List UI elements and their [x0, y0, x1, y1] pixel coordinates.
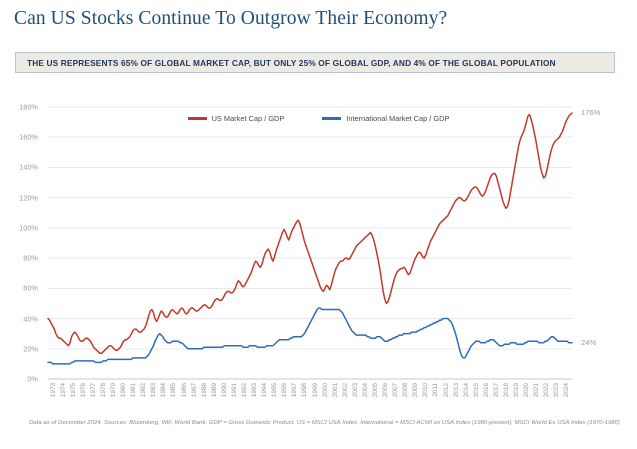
x-axis-tick-label: 1992: [241, 383, 248, 397]
x-axis-tick-label: 2017: [493, 383, 500, 397]
x-axis-tick-label: 1975: [70, 383, 77, 397]
y-axis-tick-label: 80%: [8, 254, 38, 263]
x-axis-tick-label: 1982: [140, 383, 147, 397]
x-axis-tick-label: 2010: [422, 383, 429, 397]
x-axis-tick-label: 1986: [181, 383, 188, 397]
x-axis-tick-label: 1993: [251, 383, 258, 397]
subtitle-text: THE US REPRESENTS 65% OF GLOBAL MARKET C…: [16, 58, 556, 68]
x-axis-tick-label: 2004: [362, 383, 369, 397]
x-axis-tick-label: 1983: [150, 383, 157, 397]
y-axis-tick-label: 20%: [8, 344, 38, 353]
x-axis-tick-label: 2007: [392, 383, 399, 397]
x-axis-tick-label: 1989: [211, 383, 218, 397]
series-line-international: [48, 308, 572, 364]
x-axis-tick-label: 1999: [312, 383, 319, 397]
x-axis-tick-label: 1980: [120, 383, 127, 397]
x-axis-tick-label: 1973: [50, 383, 57, 397]
x-axis-tick-label: 2002: [342, 383, 349, 397]
x-axis-tick-label: 2000: [322, 383, 329, 397]
x-axis-tick-label: 1995: [271, 383, 278, 397]
chart-container: US Market Cap / GDPInternational Market …: [0, 88, 637, 413]
x-axis-tick-label: 1981: [130, 383, 137, 397]
y-axis-tick-label: 120%: [8, 193, 38, 202]
x-axis-tick-label: 2022: [543, 383, 550, 397]
end-label-international: 24%: [581, 338, 596, 347]
x-axis-tick-label: 1994: [261, 383, 268, 397]
x-axis-tick-label: 1996: [281, 383, 288, 397]
x-axis-tick-label: 1990: [221, 383, 228, 397]
x-axis-tick-label: 2014: [463, 383, 470, 397]
x-axis-tick-label: 2020: [523, 383, 530, 397]
x-axis-tick-label: 2006: [382, 383, 389, 397]
y-axis-tick-label: 0%: [8, 375, 38, 384]
footnote: Data as of December 2024. Sources: Bloom…: [29, 420, 620, 426]
x-axis-tick-label: 2016: [483, 383, 490, 397]
x-axis-tick-label: 2008: [402, 383, 409, 397]
x-axis-tick-label: 1976: [80, 383, 87, 397]
x-axis-tick-label: 1985: [170, 383, 177, 397]
y-axis-tick-label: 180%: [8, 103, 38, 112]
x-axis-tick-label: 2023: [553, 383, 560, 397]
x-axis-tick-label: 1978: [100, 383, 107, 397]
y-axis-tick-label: 140%: [8, 163, 38, 172]
x-axis-tick-label: 2009: [412, 383, 419, 397]
line-chart: [0, 88, 637, 413]
series-line-us: [48, 113, 572, 353]
x-axis-tick-label: 1977: [90, 383, 97, 397]
x-axis-tick-label: 2012: [443, 383, 450, 397]
x-axis-tick-label: 1988: [201, 383, 208, 397]
x-axis-tick-label: 1998: [301, 383, 308, 397]
x-axis-tick-label: 1974: [60, 383, 67, 397]
page-title: Can US Stocks Continue To Outgrow Their …: [14, 8, 447, 30]
x-axis-tick-label: 2003: [352, 383, 359, 397]
x-axis-tick-label: 2021: [533, 383, 540, 397]
x-axis-tick-label: 2015: [473, 383, 480, 397]
x-axis-tick-label: 2011: [432, 383, 439, 397]
x-axis-tick-label: 1979: [110, 383, 117, 397]
x-axis-tick-label: 2001: [332, 383, 339, 397]
y-axis-tick-label: 60%: [8, 284, 38, 293]
x-axis-tick-label: 2013: [453, 383, 460, 397]
x-axis-tick-label: 1987: [191, 383, 198, 397]
y-axis-tick-label: 160%: [8, 133, 38, 142]
x-axis-tick-label: 1984: [160, 383, 167, 397]
x-axis-tick-label: 1991: [231, 383, 238, 397]
x-axis-tick-label: 2024: [563, 383, 570, 397]
x-axis-tick-label: 1997: [291, 383, 298, 397]
x-axis-tick-label: 2018: [503, 383, 510, 397]
y-axis-tick-label: 100%: [8, 223, 38, 232]
y-axis-tick-label: 40%: [8, 314, 38, 323]
subtitle-banner: THE US REPRESENTS 65% OF GLOBAL MARKET C…: [15, 52, 615, 73]
x-axis-tick-label: 2019: [513, 383, 520, 397]
end-label-us: 176%: [581, 108, 600, 117]
x-axis-tick-label: 2005: [372, 383, 379, 397]
